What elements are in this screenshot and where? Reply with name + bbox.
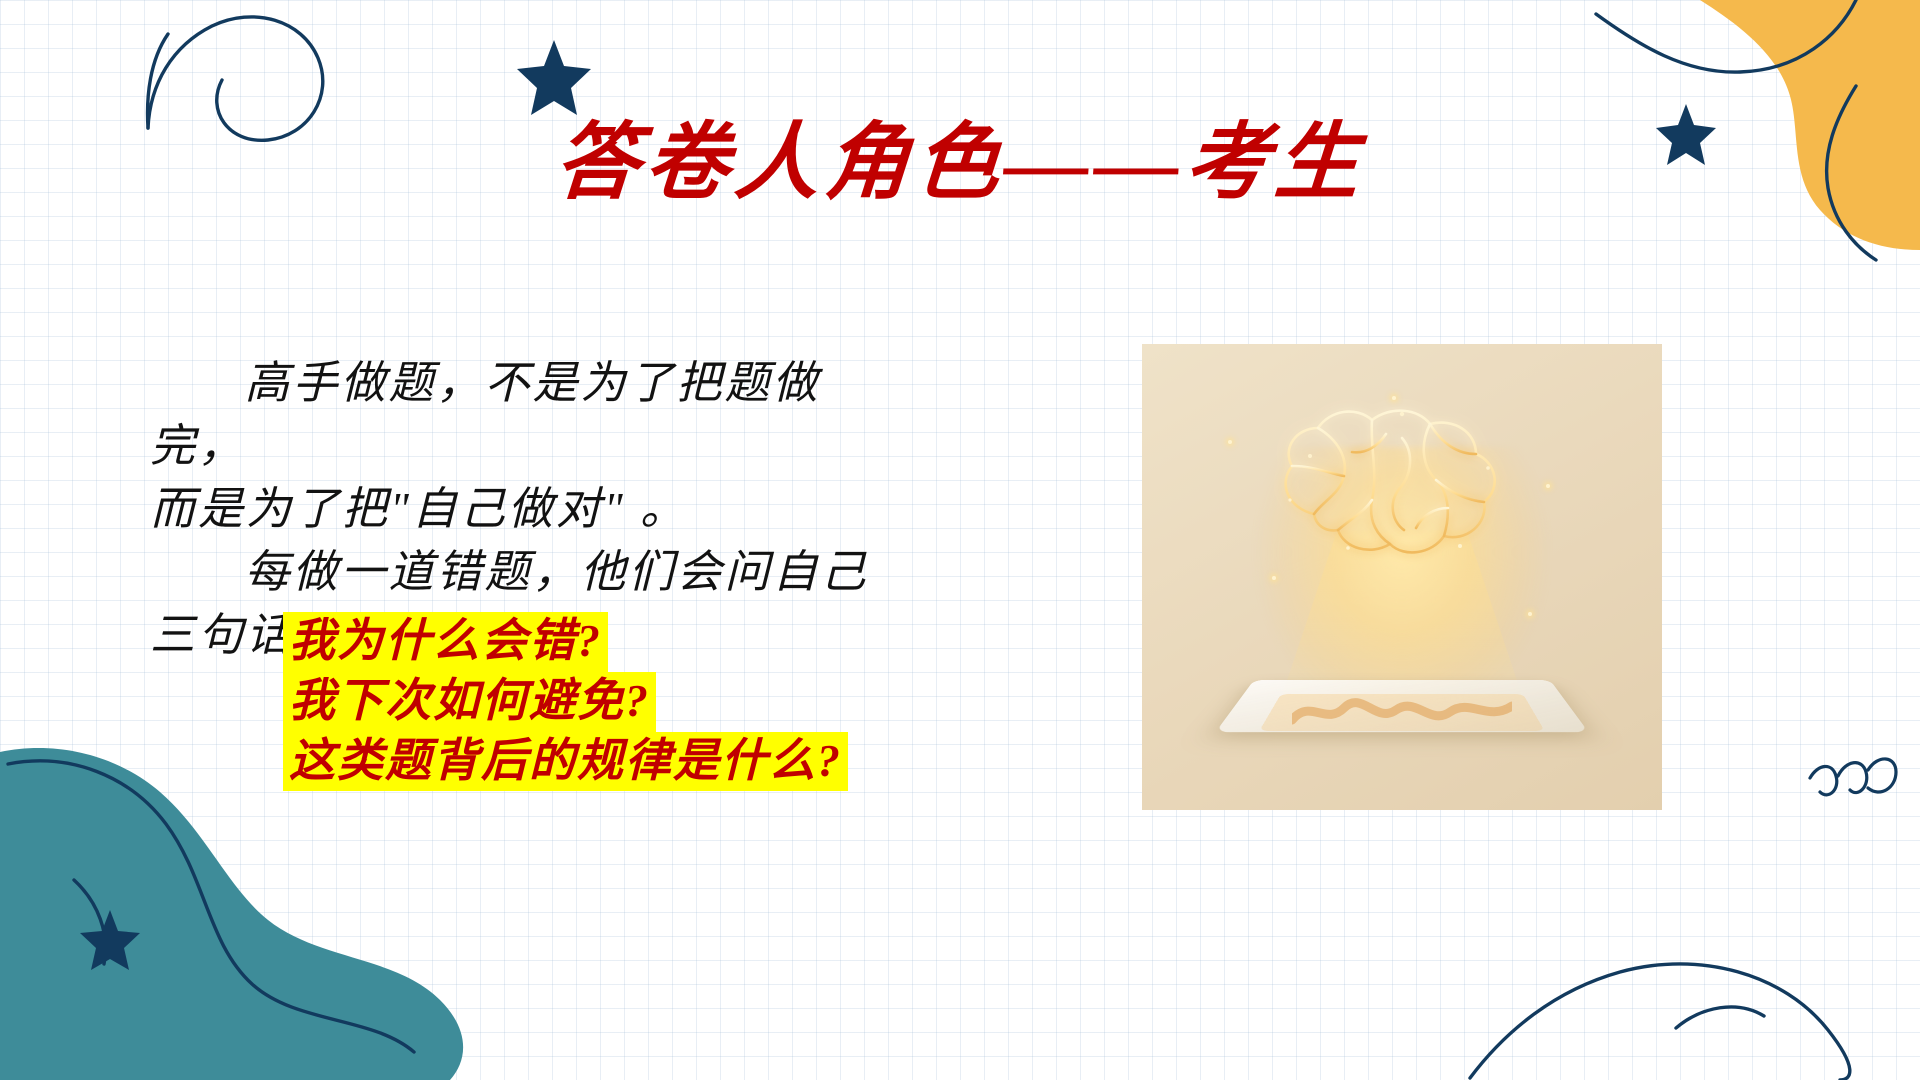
waveform-graphic — [1292, 692, 1512, 732]
highlight-item-1: 我为什么会错? — [283, 612, 608, 672]
body-line-1-text: 高手做题，不是为了把题做完， — [150, 358, 821, 471]
sparkle-2 — [1546, 484, 1550, 488]
highlight-item-3: 这类题背后的规律是什么? — [283, 732, 848, 792]
sparkle-5 — [1392, 396, 1396, 400]
body-line-1: 高手做题，不是为了把题做完， — [150, 352, 910, 478]
body-line-3-text: 每做一道错题，他们会问自己 — [245, 547, 869, 597]
sparkle-1 — [1228, 440, 1232, 444]
brain-hologram-image — [1142, 344, 1662, 810]
highlight-item-2: 我下次如何避免? — [283, 672, 656, 732]
slide-title: 答卷人角色——考生 — [0, 120, 1920, 208]
body-line-3: 每做一道错题，他们会问自己 — [150, 541, 910, 604]
body-line-2: 而是为了把"自己做对" 。 — [150, 478, 910, 541]
highlighted-question-list: 我为什么会错? 我下次如何避免? 这类题背后的规律是什么? — [283, 612, 848, 791]
sparkle-4 — [1528, 612, 1532, 616]
body-line-2-text: 而是为了把"自己做对" 。 — [150, 484, 688, 534]
brain-icon — [1252, 396, 1552, 606]
sparkle-3 — [1272, 576, 1276, 580]
